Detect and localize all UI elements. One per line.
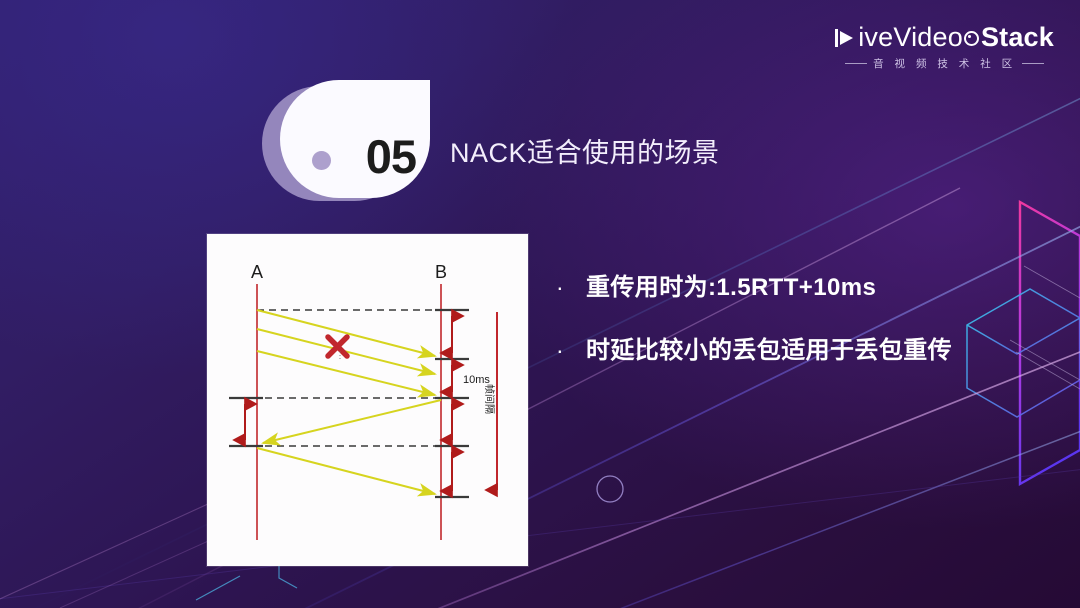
logo-part-stack: Stack: [981, 24, 1054, 51]
decorative-circle: [597, 476, 623, 502]
slide-root: ive Video Stack 音 视 频 技 术 社 区 05 NACK适合使…: [0, 0, 1080, 608]
wireframe-bottom-left-box: [196, 566, 297, 600]
brand-logo: ive Video Stack 音 视 频 技 术 社 区: [835, 24, 1054, 71]
wireframe-guides: [1010, 266, 1080, 389]
sequence-diagram-panel: A B: [207, 234, 528, 566]
section-number: 05: [366, 133, 416, 180]
circle-dot-icon: [964, 31, 979, 46]
section-number-badge: 05: [262, 80, 430, 202]
logo-rule-left: [845, 63, 867, 64]
logo-part-video: Video: [893, 24, 963, 51]
packet-arrow-1: [257, 310, 435, 356]
logo-subtitle-row: 音 视 频 技 术 社 区: [835, 56, 1054, 71]
bullet-text-1: 重传用时为:1.5RTT+10ms: [586, 272, 876, 305]
endpoint-label-a: A: [251, 262, 263, 282]
bullet-text-2: 时延比较小的丢包适用于丢包重传: [586, 335, 952, 368]
bullet-marker-icon: ·: [556, 335, 586, 365]
logo-subtitle: 音 视 频 技 术 社 区: [873, 56, 1016, 71]
list-item: · 时延比较小的丢包适用于丢包重传: [556, 335, 976, 368]
page-title: NACK适合使用的场景: [450, 131, 720, 170]
diagram-ellipsis: ⋮: [336, 350, 345, 360]
wireframe-d-shape: [1020, 202, 1080, 484]
nack-arrow: [263, 400, 441, 443]
badge-dot-icon: [312, 151, 331, 170]
wireframe-cube: [967, 289, 1080, 417]
retransmit-arrow: [257, 448, 435, 494]
bullet-list: · 重传用时为:1.5RTT+10ms · 时延比较小的丢包适用于丢包重传: [556, 272, 976, 397]
play-icon: [835, 28, 857, 48]
time-axis-label: 帧间隔: [483, 384, 496, 414]
list-item: · 重传用时为:1.5RTT+10ms: [556, 272, 976, 305]
logo-rule-right: [1022, 63, 1044, 64]
sequence-diagram: A B: [207, 234, 528, 566]
bullet-marker-icon: ·: [556, 272, 586, 302]
badge-body: 05: [280, 80, 430, 198]
logo-wordmark: ive Video Stack: [835, 24, 1054, 51]
endpoint-label-b: B: [435, 262, 447, 282]
logo-part-live: ive: [858, 24, 893, 51]
